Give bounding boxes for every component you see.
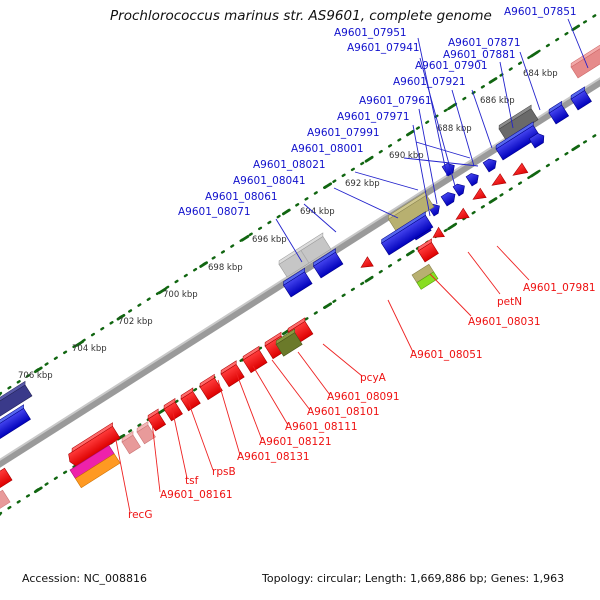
gene-arrow[interactable] [453,181,467,196]
gene-label[interactable]: A9601_08041 [233,175,306,187]
gene-arrow[interactable] [430,227,444,242]
gene-label[interactable]: A9601_07901 [415,60,488,72]
gene-label[interactable]: A9601_07851 [504,6,577,18]
red-leader-lines [116,246,529,512]
status-bar: Accession: NC_008816 Topology: circular;… [0,562,600,600]
gene-label[interactable]: A9601_07871 [448,37,521,49]
gene-label[interactable]: tsf [185,475,199,487]
gene-arrow[interactable] [0,468,12,492]
page-title: Prochlorococcus marinus str. AS9601, com… [110,8,492,24]
gene-label[interactable]: pcyA [360,372,387,384]
gene-label[interactable]: A9601_08111 [285,421,358,433]
axis-tick-label: 696 kbp [252,235,287,245]
gene-label[interactable]: A9601_08161 [160,489,233,501]
gene-label[interactable]: A9601_07991 [307,127,380,139]
axis-tick-label: 700 kbp [163,290,198,300]
gene-arrow[interactable] [358,257,373,272]
gene-label[interactable]: A9601_08021 [253,159,326,171]
gene-label[interactable]: A9601_08131 [237,451,310,463]
axis-tick-label: 686 kbp [480,96,515,106]
gene-label[interactable]: A9601_07961 [359,95,432,107]
gene-arrow[interactable] [470,188,486,204]
axis-tick-label: 684 kbp [523,69,558,79]
gene-label[interactable]: A9601_07951 [334,27,407,39]
gene-label[interactable]: A9601_08061 [205,191,278,203]
gene-arrow[interactable] [0,490,10,514]
axis-tick-label: 706 kbp [18,371,53,381]
gene-label[interactable]: petN [497,296,522,308]
gene-label[interactable]: A9601_08001 [291,143,364,155]
gene-label[interactable]: A9601_08121 [259,436,332,448]
gene-label[interactable]: A9601_07981 [523,282,596,294]
gene-arrow[interactable] [219,361,246,387]
gene-arrow[interactable] [466,171,481,186]
axis-tick-label: 702 kbp [118,317,153,327]
axis-tick-label: 692 kbp [345,179,380,189]
gene-label[interactable]: A9601_08091 [327,391,400,403]
topology-text: Topology: circular; Length: 1,669,886 bp… [262,572,564,585]
gene-arrow[interactable] [510,163,528,180]
gene-label[interactable]: rpsB [212,466,236,478]
gene-arrow[interactable] [162,398,184,420]
gene-label[interactable]: A9601_08031 [468,316,541,328]
accession-text: Accession: NC_008816 [22,572,147,585]
axis-tick-label: 704 kbp [72,344,107,354]
gene-arrow[interactable] [416,239,440,262]
gene-label[interactable]: A9601_07921 [393,76,466,88]
gene-label[interactable]: A9601_08071 [178,206,251,218]
gene-arrow[interactable] [489,174,506,190]
gene-label[interactable]: A9601_07971 [337,111,410,123]
gene-arrow[interactable] [412,264,438,289]
axis-tick-label: 698 kbp [208,263,243,273]
gene-arrow[interactable] [441,190,458,206]
gene-label[interactable]: recG [128,509,152,521]
genome-map-canvas[interactable]: Prochlorococcus marinus str. AS9601, com… [0,0,600,600]
genome-map-viewer: Prochlorococcus marinus str. AS9601, com… [0,0,600,600]
gene-label[interactable]: A9601_08101 [307,406,380,418]
gene-label[interactable]: A9601_07941 [347,42,420,54]
axis-tick-label: 688 kbp [437,124,472,134]
gene-label[interactable]: A9601_08051 [410,349,483,361]
gene-arrow[interactable] [453,208,469,224]
